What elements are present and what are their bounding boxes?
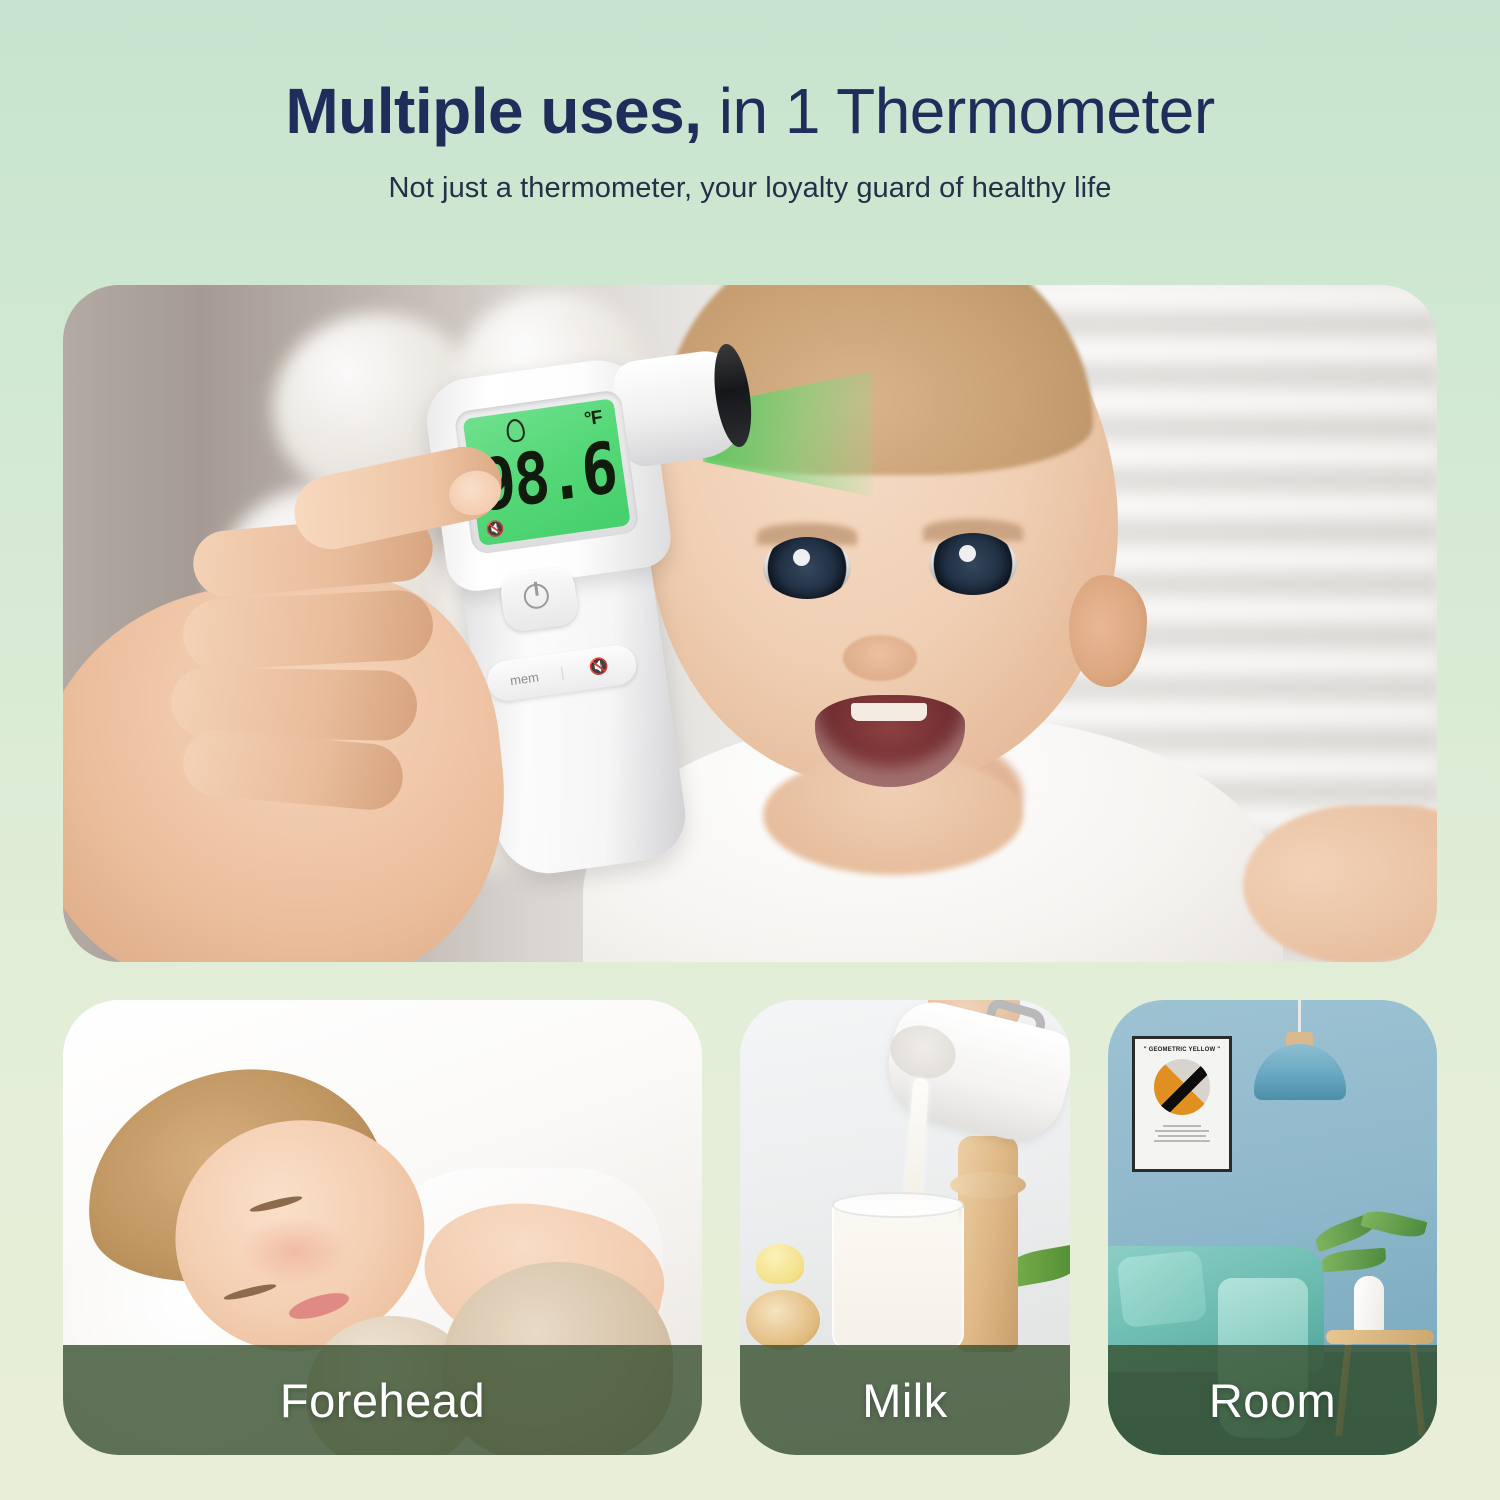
card-room[interactable]: " GEOMETRIC YELLOW " Room	[1108, 1000, 1437, 1455]
finger	[170, 667, 417, 741]
poster-text-lines	[1150, 1125, 1214, 1142]
mute-icon: 🔇	[485, 521, 504, 538]
mute-button[interactable]: 🔇	[561, 655, 637, 681]
page-subtitle: Not just a thermometer, your loyalty gua…	[0, 172, 1500, 205]
card-forehead[interactable]: Forehead	[63, 1000, 702, 1455]
baby-eye-right	[929, 533, 1017, 595]
use-case-cards: Forehead Milk " GEOMETRIC YELLOW "	[63, 1000, 1437, 1455]
child-cheek	[239, 1216, 349, 1286]
power-button[interactable]	[499, 566, 580, 634]
caption-band-forehead: Forehead	[63, 1345, 702, 1455]
headline-light: in 1 Thermometer	[702, 75, 1215, 147]
side-stool-top	[1326, 1330, 1434, 1344]
page-title: Multiple uses, in 1 Thermometer	[0, 78, 1500, 146]
power-icon	[522, 582, 550, 610]
caption-band-room: Room	[1108, 1345, 1437, 1455]
baby-teeth	[851, 703, 927, 721]
card-caption-milk: Milk	[862, 1373, 948, 1428]
plant-vase	[1354, 1276, 1384, 1338]
poster-title: " GEOMETRIC YELLOW "	[1141, 1047, 1223, 1053]
cushion	[1117, 1250, 1208, 1328]
card-caption-forehead: Forehead	[280, 1373, 485, 1428]
lcd-unit-label: °F	[583, 410, 602, 428]
header: Multiple uses, in 1 Thermometer Not just…	[0, 0, 1500, 205]
wall-poster: " GEOMETRIC YELLOW "	[1132, 1036, 1232, 1172]
milk-glass-rim	[832, 1192, 964, 1218]
caption-band-milk: Milk	[740, 1345, 1070, 1455]
hero-image-card: °F 98.6 🔇 mem 🔇	[63, 285, 1437, 962]
card-milk[interactable]: Milk	[740, 1000, 1070, 1455]
baby-nose	[843, 635, 917, 681]
headline-bold: Multiple uses,	[285, 75, 701, 147]
yellow-tulip	[756, 1244, 804, 1284]
baby-eye-left	[763, 537, 851, 599]
pastry	[746, 1290, 820, 1350]
wooden-grinder	[958, 1136, 1018, 1352]
memory-button[interactable]: mem	[487, 666, 564, 689]
card-caption-room: Room	[1209, 1373, 1336, 1428]
finger	[181, 589, 434, 672]
poster-artwork	[1154, 1059, 1210, 1115]
milk-glass	[832, 1200, 964, 1350]
